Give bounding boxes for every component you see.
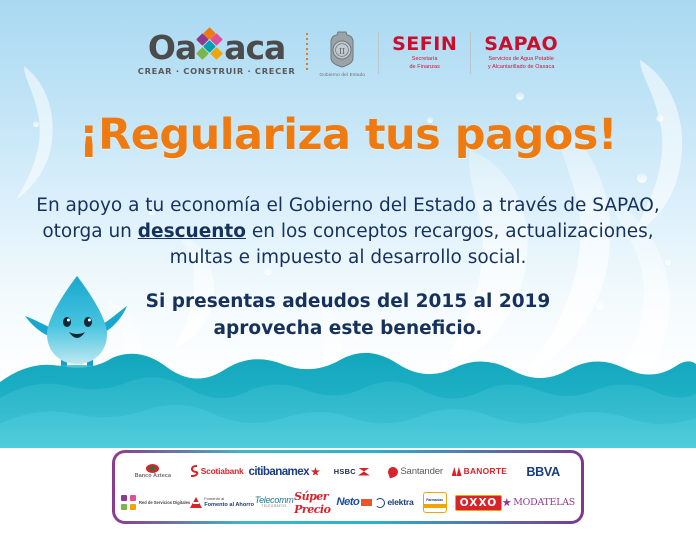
oaxaca-tagline: CREAR · CONSTRUIR · CRECER: [138, 67, 296, 75]
logo-elektra[interactable]: elektra: [374, 487, 414, 518]
farmacias-icon: Farmacias: [423, 492, 447, 513]
logo-banorte[interactable]: BANORTE: [447, 456, 511, 487]
seal-caption: Gobierno del Estado: [319, 72, 365, 77]
fomento-al-ahorro-icon: [190, 497, 202, 508]
logo-scotiabank[interactable]: Scotiabank: [185, 456, 249, 487]
banco-azteca-icon: [146, 464, 159, 473]
sapao-sub-line2: y Alcantarillado de Oaxaca: [488, 65, 554, 71]
neto-label: Neto: [336, 497, 359, 508]
oxxo-label: OXXO: [460, 497, 498, 509]
logo-modatelas[interactable]: MODATELAS: [502, 487, 575, 518]
citibanamex-icon: [311, 467, 320, 476]
telecomm-sub: TELÉGRAFOS: [261, 505, 286, 508]
santander-label: Santander: [400, 467, 442, 477]
logo-red-servicios-digitales[interactable]: Red de Servicios Digitales: [121, 487, 190, 518]
logo-fomento-al-ahorro[interactable]: Fomento al Fomento al Ahorro: [190, 487, 254, 518]
bbva-label: BBVA: [526, 465, 560, 479]
logo-citibanamex[interactable]: citibanamex: [249, 456, 320, 487]
logo-neto[interactable]: Neto: [334, 487, 374, 518]
divider-1: [378, 32, 379, 74]
sefin-logo: SEFIN Secretaría de Finanzas: [392, 35, 457, 70]
divider-2: [470, 32, 471, 74]
logo-telecomm[interactable]: Telecomm TELÉGRAFOS: [254, 487, 294, 518]
banorte-label: BANORTE: [464, 467, 508, 475]
svg-text:II: II: [339, 47, 345, 56]
logo-bbva[interactable]: BBVA: [511, 456, 575, 487]
oaxaca-word-after: aca: [224, 31, 285, 64]
dotted-divider: [306, 33, 308, 73]
scotiabank-icon: [190, 465, 199, 478]
logo-banco-azteca[interactable]: Banco Azteca: [121, 456, 185, 487]
modatelas-label: MODATELAS: [513, 498, 575, 507]
promotional-banner: Oa aca CREAR · CONSTRUIR · CRECER II: [0, 0, 696, 538]
hsbc-icon: [358, 468, 370, 476]
body-paragraph-1: En apoyo a tu economía el Gobierno del E…: [30, 193, 666, 271]
oaxaca-logo: Oa aca CREAR · CONSTRUIR · CRECER: [138, 31, 296, 75]
logo-santander[interactable]: Santander: [384, 456, 448, 487]
modatelas-icon: [502, 498, 511, 507]
elektra-icon: [375, 498, 385, 508]
seal-emblem-icon: II: [325, 30, 359, 70]
header-logo-strip: Oa aca CREAR · CONSTRUIR · CRECER II: [0, 22, 696, 84]
sefin-sub-line2: de Finanzas: [409, 65, 439, 71]
oaxaca-wordmark: Oa aca: [148, 31, 285, 64]
neto-icon: [361, 499, 372, 506]
santander-icon: [387, 465, 400, 478]
fomento-al-ahorro-label: Fomento al Fomento al Ahorro: [204, 497, 254, 508]
sapao-logo: SAPAO Servicios de Agua Potable y Alcant…: [484, 35, 558, 70]
citibanamex-label: citibanamex: [249, 466, 309, 478]
oaxaca-word-before: Oa: [148, 31, 196, 64]
chedraui-script-label: Súper Precio: [294, 490, 334, 516]
payment-logos-panel: Banco Azteca Scotiabank citibanamex: [112, 450, 584, 524]
elektra-label: elektra: [387, 498, 413, 507]
sapao-sub-line1: Servicios de Agua Potable: [489, 57, 554, 63]
red-servicios-digitales-label: Red de Servicios Digitales: [139, 500, 190, 506]
red-servicios-digitales-icon: [121, 495, 137, 511]
oaxaca-colored-x-icon: [195, 32, 225, 62]
scotiabank-label: Scotiabank: [201, 467, 244, 475]
government-seal: II Gobierno del Estado: [319, 30, 365, 77]
logo-farmacias[interactable]: Farmacias: [415, 487, 455, 518]
wave-graphic: [0, 352, 696, 460]
sefin-name: SEFIN: [392, 35, 457, 55]
logo-oxxo[interactable]: OXXO: [455, 487, 503, 518]
sefin-sub-line1: Secretaría: [412, 57, 438, 63]
banorte-icon: [452, 467, 462, 476]
oxxo-icon: OXXO: [455, 495, 503, 511]
body-p1-emphasis: descuento: [138, 221, 246, 242]
hsbc-label: HSBC: [334, 468, 356, 475]
logo-hsbc[interactable]: HSBC: [320, 456, 384, 487]
payment-logos-row-1: Banco Azteca Scotiabank citibanamex: [121, 456, 575, 487]
headline: ¡Regulariza tus pagos!: [0, 110, 696, 160]
banco-azteca-label: Banco Azteca: [135, 474, 171, 479]
payment-logos-row-2: Red de Servicios Digitales Fomento al Fo…: [121, 487, 575, 518]
farmacias-label: Farmacias: [426, 498, 443, 502]
logo-chedraui-script[interactable]: Súper Precio: [294, 487, 334, 518]
sapao-name: SAPAO: [484, 35, 558, 55]
